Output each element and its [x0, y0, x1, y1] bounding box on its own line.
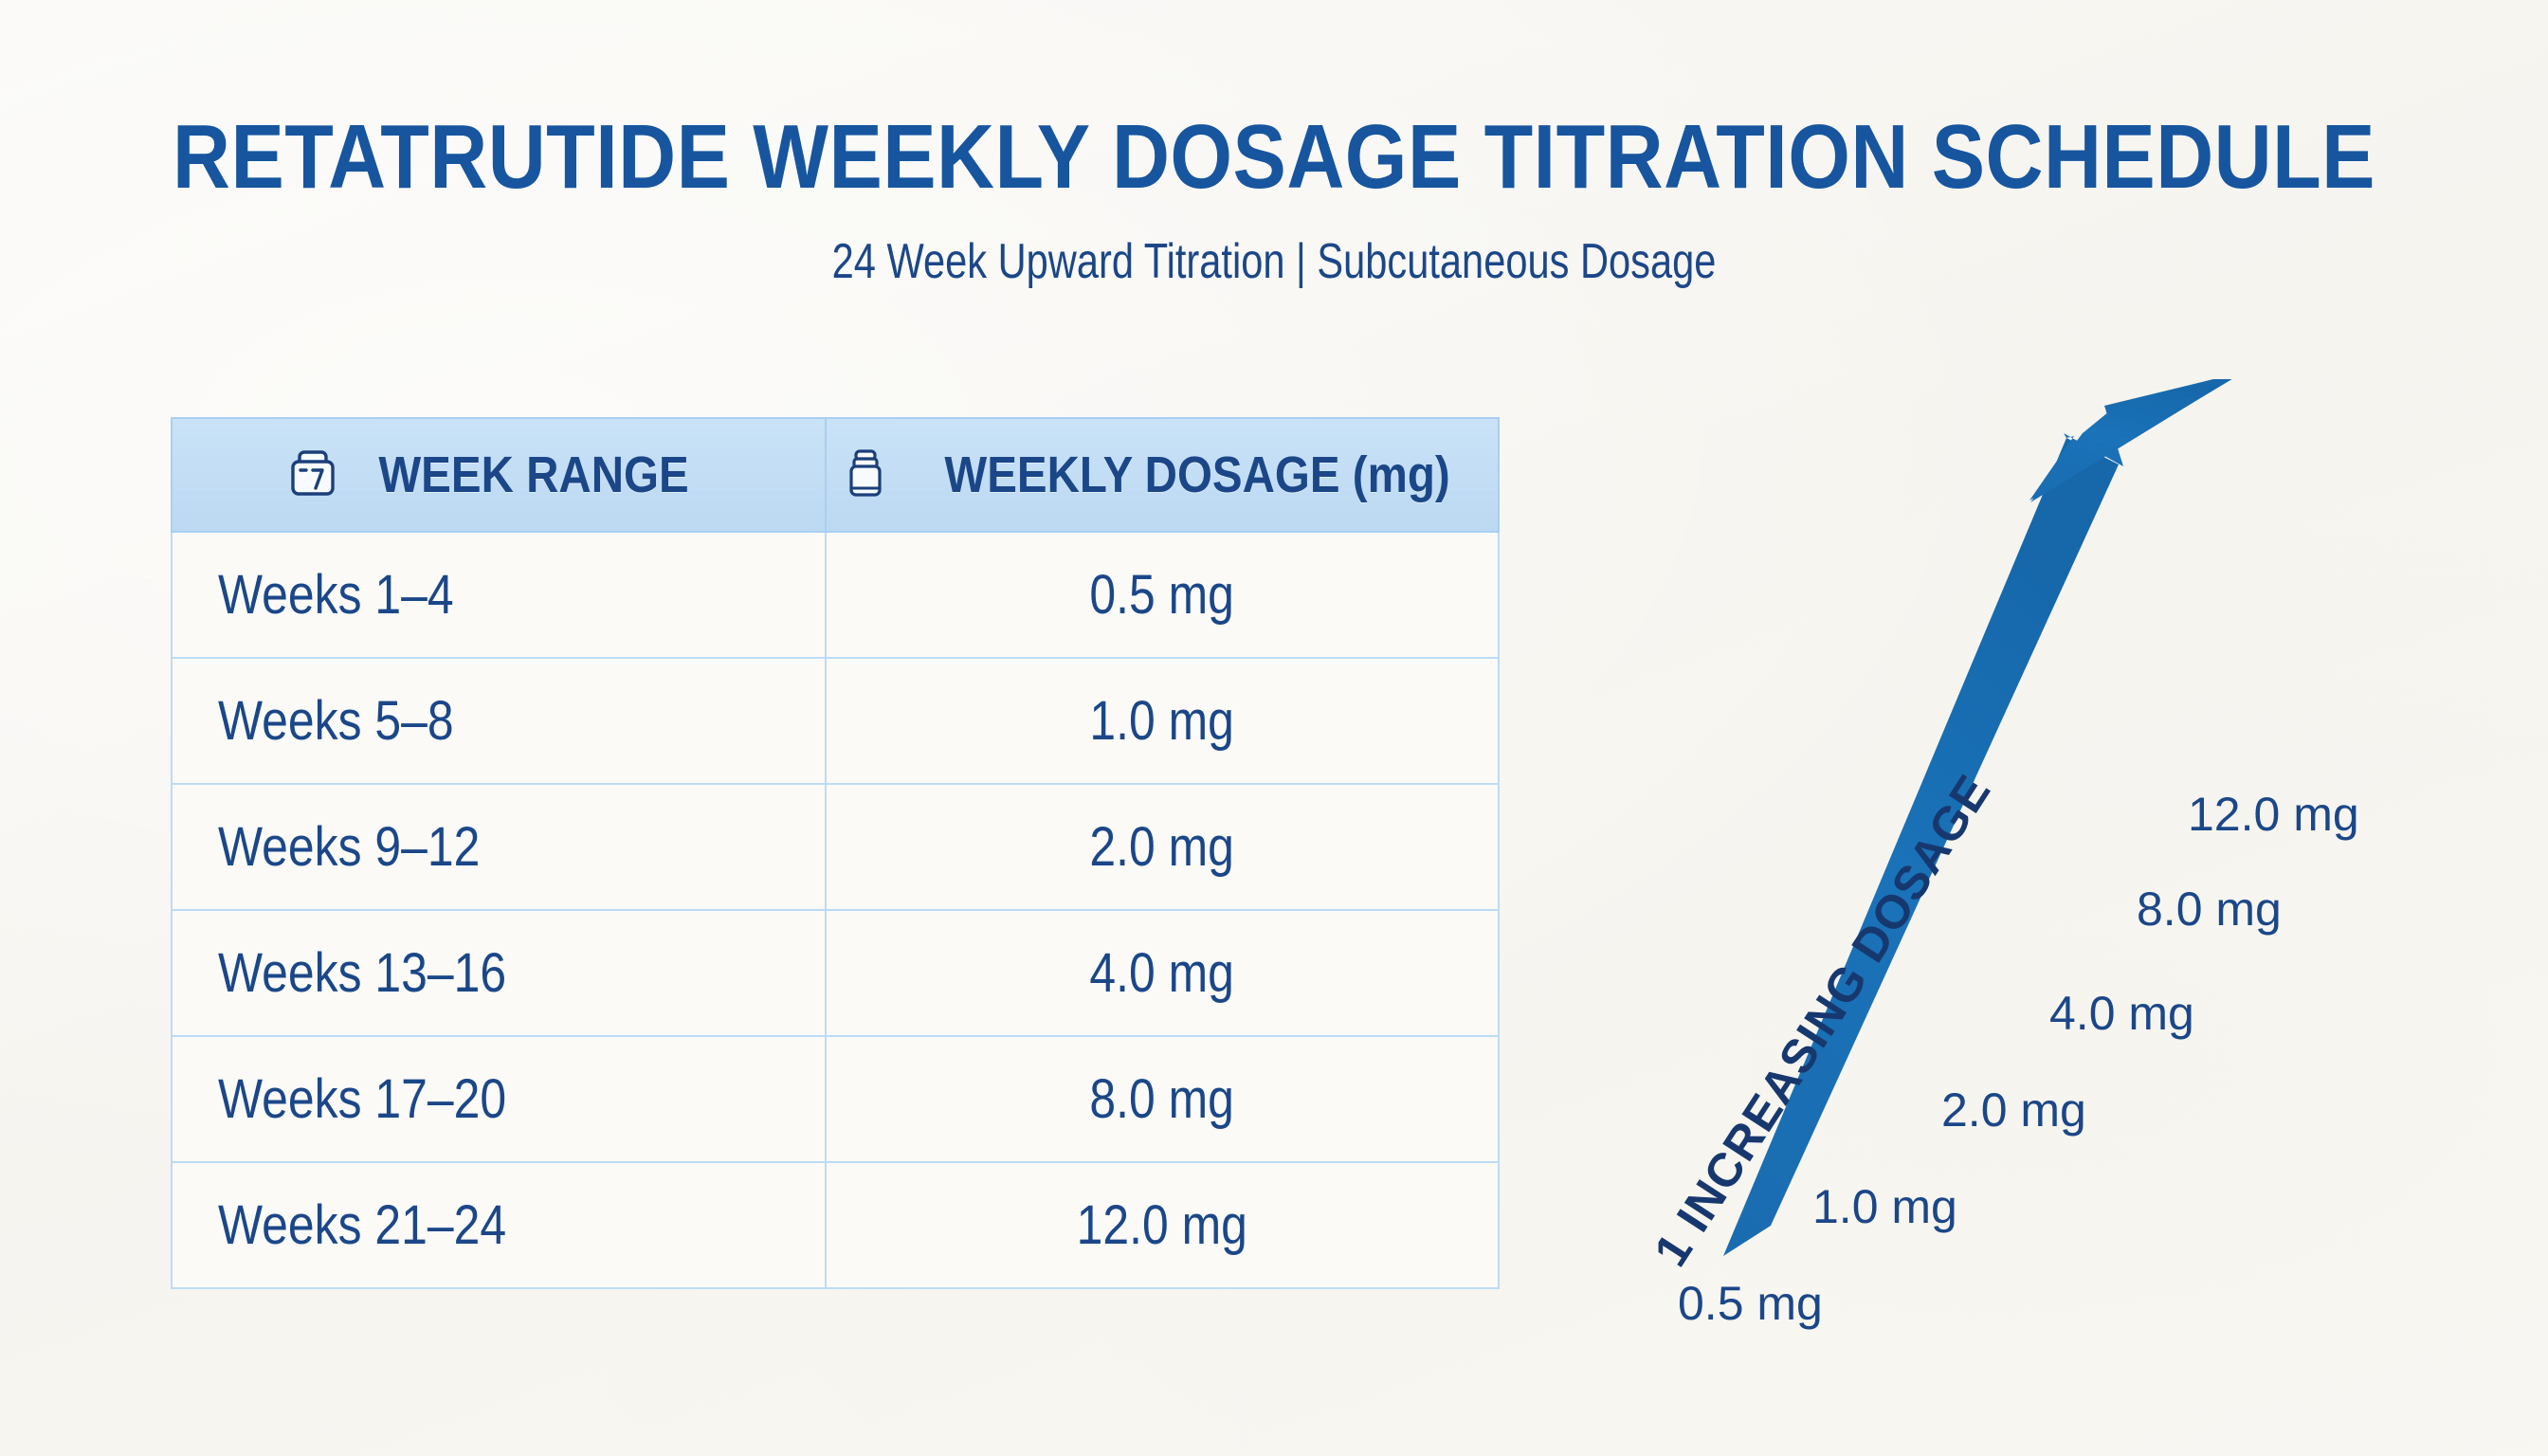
table-row: Weeks 17–20 8.0 mg — [172, 1036, 1499, 1162]
column-header-weekly-dosage: WEEKLY DOSAGE (mg) — [826, 418, 1499, 532]
cell-dosage: 12.0 mg — [826, 1162, 1499, 1288]
arrow-label-4: 8.0 mg — [2137, 882, 2282, 937]
arrow-label-5: 12.0 mg — [2188, 787, 2359, 842]
cell-week-range: Weeks 9–12 — [172, 784, 826, 910]
cell-week-range: Weeks 21–24 — [172, 1162, 826, 1288]
calendar-icon — [287, 447, 338, 503]
table-row: Weeks 5–8 1.0 mg — [172, 658, 1499, 784]
column-header-week-range-label: WEEK RANGE — [378, 446, 688, 504]
upward-arrow-icon — [1668, 379, 2521, 1327]
page-subtitle: 24 Week Upward Titration | Subcutaneous … — [255, 237, 2293, 286]
cell-week-range: Weeks 1–4 — [172, 532, 826, 658]
cell-dosage: 1.0 mg — [826, 658, 1499, 784]
arrow-label-2: 2.0 mg — [1941, 1083, 2086, 1137]
table-header-row: WEEK RANGE WEEKLY DOSAGE — [172, 418, 1499, 532]
table-row: Weeks 13–16 4.0 mg — [172, 910, 1499, 1036]
cell-dosage: 0.5 mg — [826, 532, 1499, 658]
page-title: RETATRUTIDE WEEKLY DOSAGE TITRATION SCHE… — [153, 112, 2394, 203]
cell-week-range: Weeks 13–16 — [172, 910, 826, 1036]
arrow-label-0: 0.5 mg — [1678, 1276, 1823, 1331]
increasing-dosage-arrow-diagram: 1 INCREASING DOSAGE 0.5 mg 1.0 mg 2.0 mg… — [1668, 379, 2521, 1327]
column-header-weekly-dosage-label: WEEKLY DOSAGE (mg) — [944, 446, 1449, 504]
table-body: Weeks 1–4 0.5 mg Weeks 5–8 1.0 mg Weeks … — [172, 532, 1499, 1288]
arrow-label-1: 1.0 mg — [1812, 1179, 1957, 1234]
table-row: Weeks 21–24 12.0 mg — [172, 1162, 1499, 1288]
cell-dosage: 4.0 mg — [826, 910, 1499, 1036]
dosage-table-container: WEEK RANGE WEEKLY DOSAGE — [171, 417, 1498, 1289]
column-header-week-range: WEEK RANGE — [172, 418, 826, 532]
table-header: WEEK RANGE WEEKLY DOSAGE — [172, 418, 1499, 532]
header: RETATRUTIDE WEEKLY DOSAGE TITRATION SCHE… — [0, 0, 2548, 286]
table-row: Weeks 9–12 2.0 mg — [172, 784, 1499, 910]
cell-week-range: Weeks 17–20 — [172, 1036, 826, 1162]
cell-dosage: 8.0 mg — [826, 1036, 1499, 1162]
arrow-label-3: 4.0 mg — [2049, 986, 2194, 1041]
cell-week-range: Weeks 5–8 — [172, 658, 826, 784]
cell-dosage: 2.0 mg — [826, 784, 1499, 910]
dosage-table: WEEK RANGE WEEKLY DOSAGE — [171, 417, 1500, 1289]
vial-icon — [840, 447, 891, 503]
table-row: Weeks 1–4 0.5 mg — [172, 532, 1499, 658]
